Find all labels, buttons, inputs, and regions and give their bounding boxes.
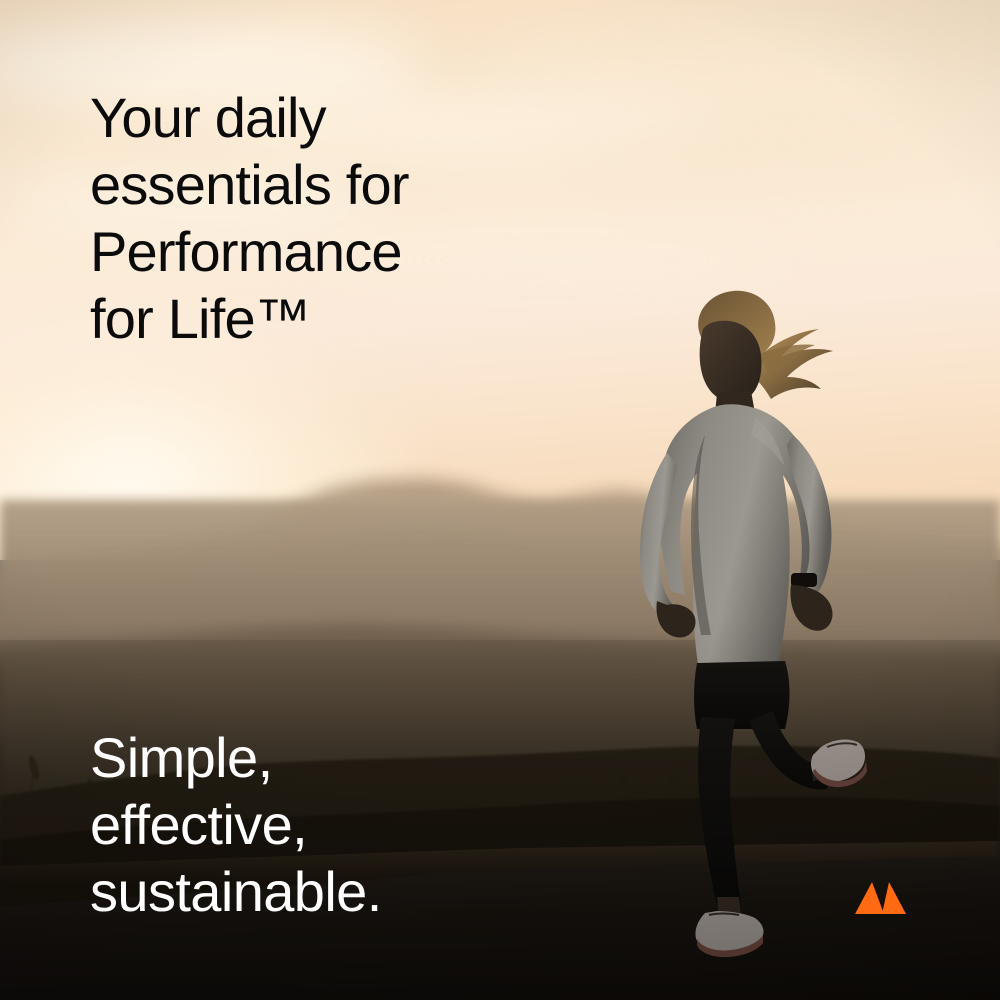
running-shoe-front bbox=[695, 911, 763, 957]
hand-right bbox=[790, 585, 832, 631]
sport-watch bbox=[791, 573, 817, 587]
leg-front bbox=[695, 717, 763, 957]
mountain-m-logo[interactable] bbox=[855, 878, 921, 914]
tagline: Simple, effective, sustainable. bbox=[90, 724, 650, 925]
running-shoe-back bbox=[811, 740, 867, 788]
hand-left bbox=[656, 601, 695, 638]
leg-back bbox=[749, 711, 867, 790]
advertisement-creative: Your daily essentials for Performance fo… bbox=[0, 0, 1000, 1000]
logo-right-peak bbox=[882, 882, 906, 914]
arm-right bbox=[787, 435, 832, 631]
logo-left-peak bbox=[855, 882, 884, 914]
page-title: Your daily essentials for Performance fo… bbox=[90, 84, 610, 352]
